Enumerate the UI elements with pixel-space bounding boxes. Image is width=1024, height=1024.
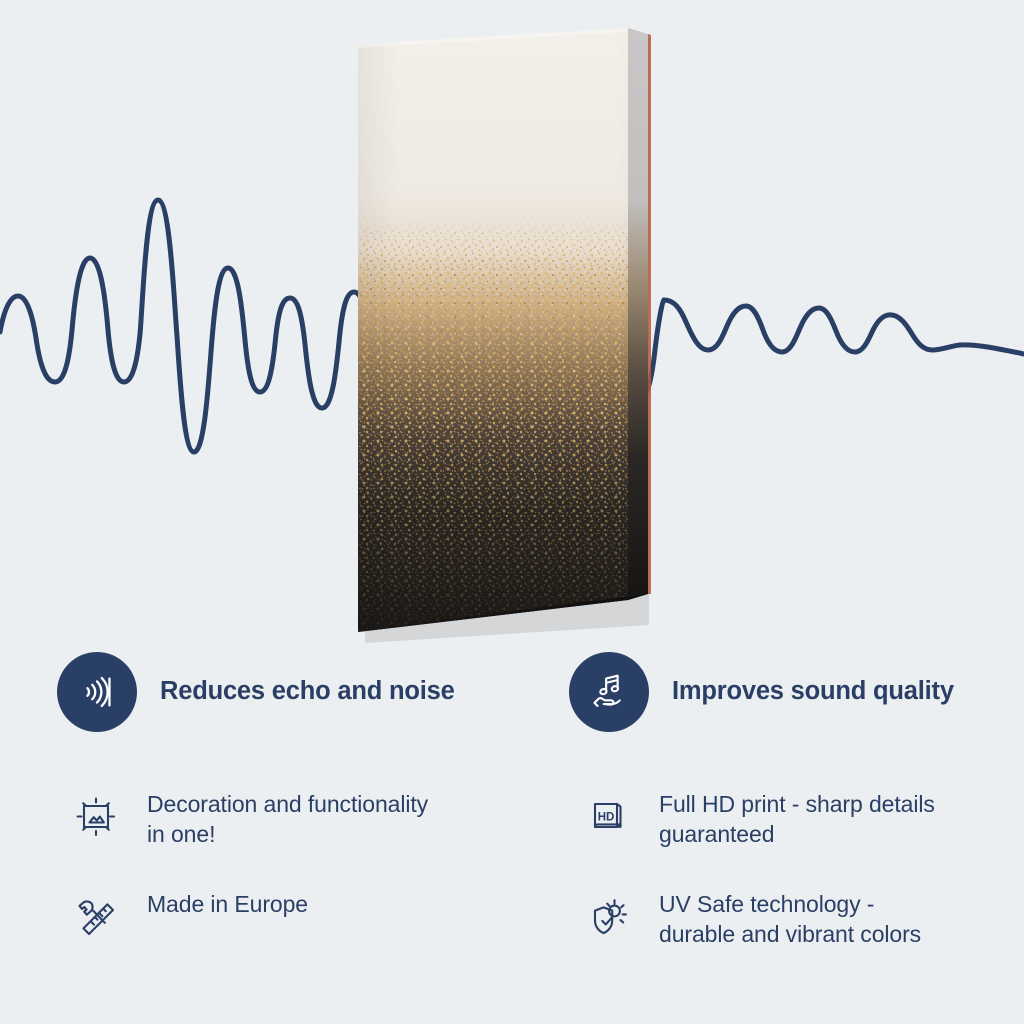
canvas-face xyxy=(352,28,664,648)
hd-print-icon: HD xyxy=(579,788,637,846)
canvas-side-edge xyxy=(628,28,648,600)
sound-waves-icon xyxy=(57,652,137,732)
hd-badge-text: HD xyxy=(598,812,615,824)
feature-line-2: durable and vibrant colors xyxy=(659,920,921,950)
primary-benefits-row: Reduces echo and noise Improves sound qu… xyxy=(0,652,1024,732)
feature-hd-print: HD Full HD print - sharp details guarant… xyxy=(512,786,1024,850)
waveform-right xyxy=(664,300,1024,354)
feature-line-1: Full HD print - sharp details xyxy=(659,790,935,820)
feature-uv-safe: UV Safe technology - durable and vibrant… xyxy=(512,886,1024,950)
benefit-label: Improves sound quality xyxy=(672,677,954,706)
feature-line-2: guaranteed xyxy=(659,820,935,850)
feature-line-1: Made in Europe xyxy=(147,890,308,920)
benefit-reduces-echo: Reduces echo and noise xyxy=(0,652,512,732)
framed-picture-icon xyxy=(67,788,125,846)
feature-label: UV Safe technology - durable and vibrant… xyxy=(659,886,921,950)
feature-line-1: Decoration and functionality xyxy=(147,790,428,820)
feature-label: Decoration and functionality in one! xyxy=(147,786,428,850)
feature-label: Made in Europe xyxy=(147,886,308,920)
feature-made-in-europe: Made in Europe xyxy=(0,886,512,950)
promo-stage: Reduces echo and noise Improves sound qu… xyxy=(0,0,1024,1024)
feature-line-2: in one! xyxy=(147,820,428,850)
feature-row-3: Made in Europe UV Safe te xyxy=(0,886,1024,950)
feature-decoration: Decoration and functionality in one! xyxy=(0,786,512,850)
benefit-label: Reduces echo and noise xyxy=(160,677,455,706)
canvas-edge-highlight xyxy=(648,34,651,594)
uv-shield-icon xyxy=(579,888,637,946)
ruler-hammer-icon xyxy=(67,888,125,946)
music-in-hand-icon xyxy=(569,652,649,732)
feature-row-2: Decoration and functionality in one! HD … xyxy=(0,786,1024,850)
feature-label: Full HD print - sharp details guaranteed xyxy=(659,786,935,850)
feature-line-1: UV Safe technology - xyxy=(659,890,921,920)
product-canvas-artwork xyxy=(352,28,664,648)
benefit-sound-quality: Improves sound quality xyxy=(512,652,1024,732)
